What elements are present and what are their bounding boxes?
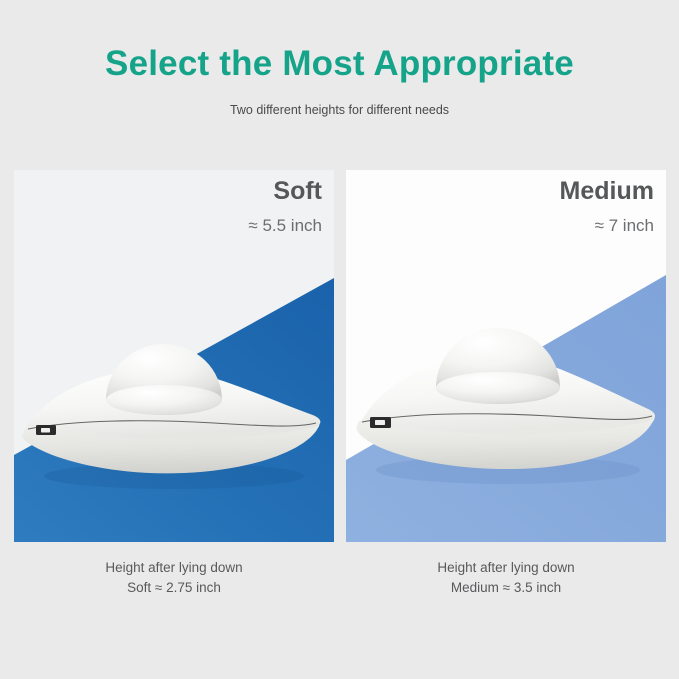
panel-soft-heading: Soft ≈ 5.5 inch [248, 176, 322, 237]
panel-medium[interactable]: Medium ≈ 7 inch [346, 170, 666, 542]
comparison-panels: Soft ≈ 5.5 inch [0, 170, 679, 542]
brand-tag-icon [370, 417, 391, 428]
caption-medium-line1: Height after lying down [346, 558, 666, 578]
brand-tag-icon [36, 425, 56, 435]
panel-soft-height: ≈ 5.5 inch [248, 207, 322, 237]
caption-medium-line2: Medium ≈ 3.5 inch [346, 578, 666, 598]
page-subtitle: Two different heights for different need… [0, 84, 679, 117]
page-header: Select the Most Appropriate Two differen… [0, 0, 679, 117]
caption-soft: Height after lying down Soft ≈ 2.75 inch [14, 558, 334, 599]
caption-soft-line2: Soft ≈ 2.75 inch [14, 578, 334, 598]
panel-medium-heading: Medium ≈ 7 inch [560, 176, 654, 237]
panel-medium-height: ≈ 7 inch [560, 207, 654, 237]
panel-soft[interactable]: Soft ≈ 5.5 inch [14, 170, 334, 542]
panel-medium-name: Medium [560, 176, 654, 207]
page-title: Select the Most Appropriate [0, 44, 679, 84]
caption-medium: Height after lying down Medium ≈ 3.5 inc… [346, 558, 666, 599]
panel-soft-name: Soft [248, 176, 322, 207]
caption-soft-line1: Height after lying down [14, 558, 334, 578]
